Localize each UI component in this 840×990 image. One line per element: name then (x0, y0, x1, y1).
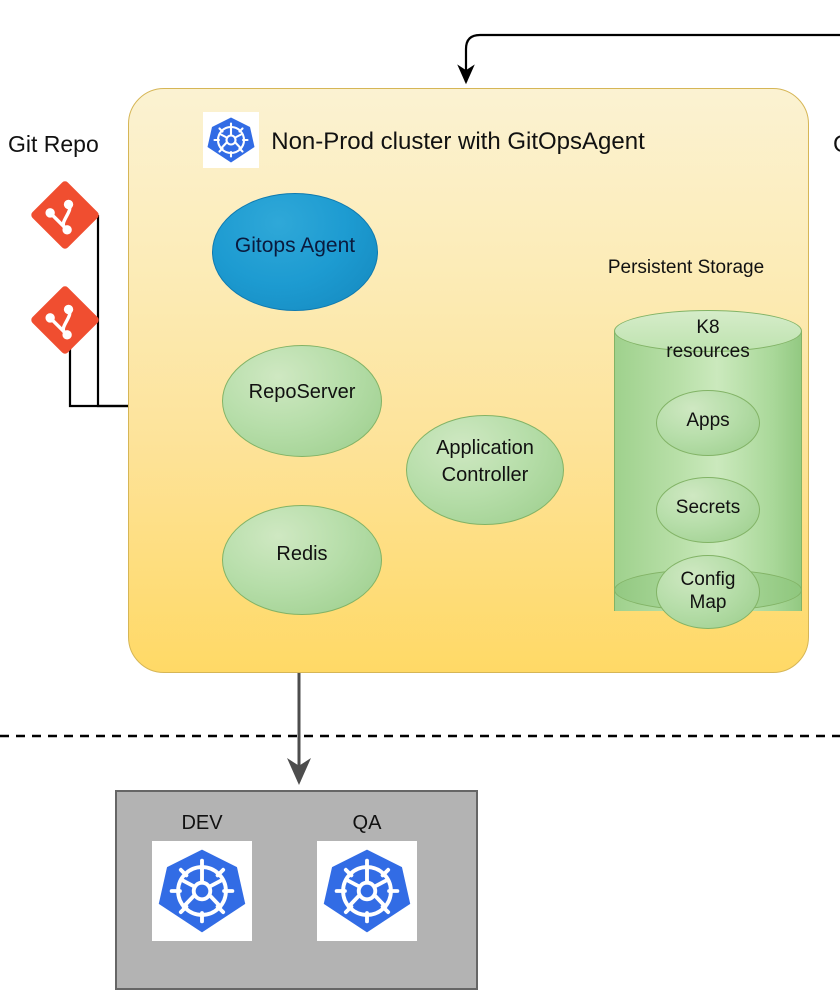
cylinder-title-line2: resources (614, 340, 802, 364)
node-repo-server[interactable]: RepoServer (222, 345, 382, 457)
cluster-title: Non-Prod cluster with GitOpsAgent (178, 128, 738, 156)
cylinder-title-line1: K8 (614, 316, 802, 340)
storage-item-apps[interactable]: Apps (656, 390, 760, 456)
git-icon-bottom (30, 285, 100, 360)
storage-item-config-map-label-line1: Config (657, 569, 759, 591)
storage-item-config-map-label-line2: Map (657, 592, 759, 614)
git-repo-label: Git Repo (8, 131, 99, 158)
node-application-controller-label-line1: Application (407, 437, 563, 460)
environments-box: DEV (115, 790, 478, 990)
diagram-canvas: Git Repo (0, 0, 840, 974)
node-application-controller[interactable]: Application Controller (406, 415, 564, 525)
kubernetes-icon (317, 841, 417, 941)
environment-cell-qa[interactable]: QA (307, 812, 427, 941)
offscreen-cluster-partial-label: G (833, 131, 840, 159)
environment-label-qa: QA (307, 812, 427, 835)
storage-item-secrets[interactable]: Secrets (656, 477, 760, 543)
storage-item-secrets-label: Secrets (657, 497, 759, 519)
persistent-storage-title: Persistent Storage (566, 257, 806, 279)
environment-cell-dev[interactable]: DEV (142, 812, 262, 941)
node-repo-server-label: RepoServer (223, 381, 381, 404)
node-redis-label: Redis (223, 543, 381, 566)
k8-resources-cylinder: K8 resources Apps Secrets Config Map (614, 310, 802, 632)
connector-top-inbound (466, 35, 840, 82)
node-application-controller-label-line2: Controller (407, 464, 563, 487)
node-gitops-agent[interactable]: Gitops Agent (212, 193, 378, 311)
environment-label-dev: DEV (142, 812, 262, 835)
storage-item-config-map[interactable]: Config Map (656, 555, 760, 629)
kubernetes-icon (152, 841, 252, 941)
storage-item-apps-label: Apps (657, 410, 759, 432)
node-redis[interactable]: Redis (222, 505, 382, 615)
node-gitops-agent-label: Gitops Agent (213, 234, 377, 258)
cylinder-title: K8 resources (614, 316, 802, 364)
git-icon-top (30, 180, 100, 255)
